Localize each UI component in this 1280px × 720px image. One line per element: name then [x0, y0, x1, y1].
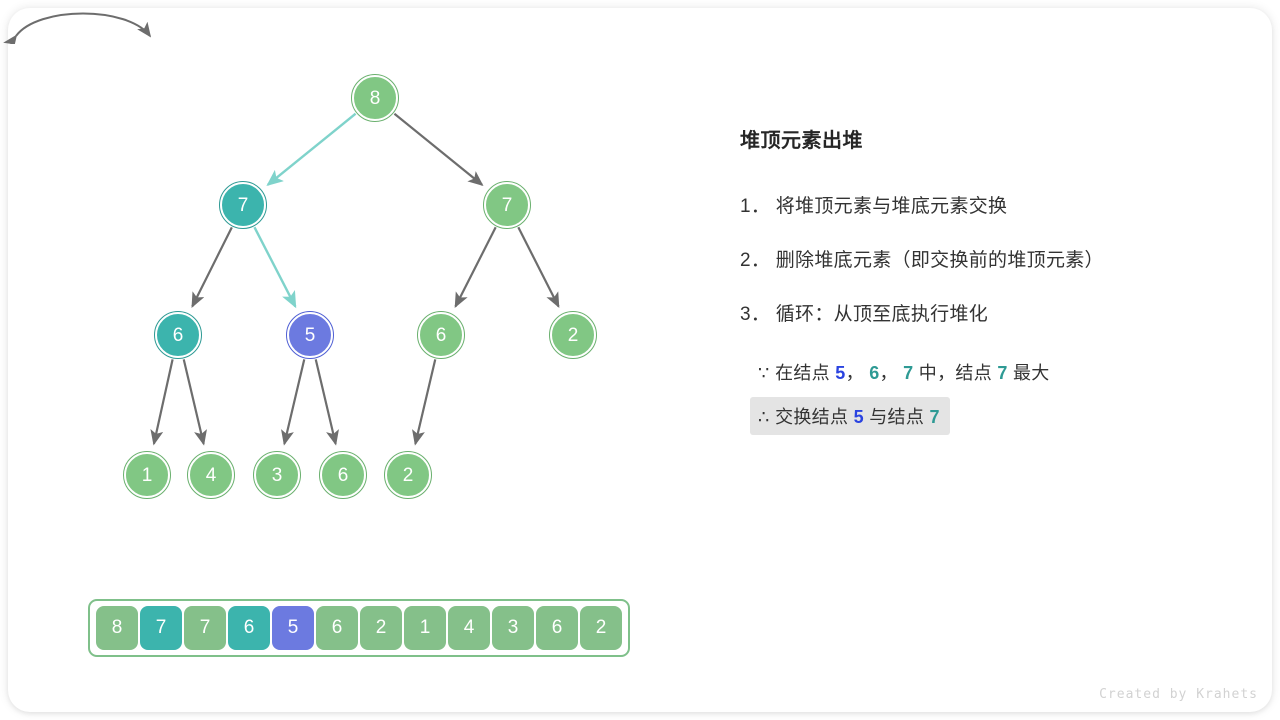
- tree-node-l3a: 1: [124, 452, 170, 498]
- step-3: 3． 循环：从顶至底执行堆化: [740, 299, 1220, 326]
- tree-node-label: 8: [370, 89, 381, 108]
- array-cell-1: 7: [140, 606, 182, 650]
- array-cell-9: 3: [492, 606, 534, 650]
- tree-node-label: 4: [206, 466, 217, 485]
- reason-line: ∵ 在结点 5， 6， 7 中，结点 7 最大: [750, 353, 1060, 391]
- tree-edge-root-to-l1: [268, 114, 356, 185]
- conclusion-line: ∴ 交换结点 5 与结点 7: [750, 397, 950, 435]
- array-cell-value: 6: [244, 617, 255, 639]
- tree-node-r1: 7: [484, 182, 530, 228]
- heap-array: 877656214362: [88, 599, 630, 657]
- array-cell-4: 5: [272, 606, 314, 650]
- array-cell-value: 6: [332, 617, 343, 639]
- tree-node-label: 7: [502, 196, 513, 215]
- array-cell-0: 8: [96, 606, 138, 650]
- tree-node-label: 7: [238, 196, 249, 215]
- step-1: 1． 将堆顶元素与堆底元素交换: [740, 191, 1220, 218]
- tree-node-label: 2: [568, 326, 579, 345]
- tree-edge-l1-to-l2b: [254, 227, 295, 306]
- illustration-canvas: 877656214362 877656214362 堆顶元素出堆 1． 将堆顶元…: [0, 0, 1280, 720]
- tree-node-l1: 7: [220, 182, 266, 228]
- tree-node-l2b: 5: [287, 312, 333, 358]
- tree-edge-r1-to-r2b: [518, 227, 558, 306]
- array-cell-2: 7: [184, 606, 226, 650]
- array-cell-value: 7: [156, 617, 167, 639]
- tree-node-label: 1: [142, 466, 153, 485]
- array-cell-10: 6: [536, 606, 578, 650]
- conclusion-text-2: 与结点: [869, 407, 924, 427]
- tree-node-l3e: 2: [385, 452, 431, 498]
- array-cell-value: 2: [596, 617, 607, 639]
- tree-edge-l2b-to-l3c: [284, 359, 304, 444]
- reason-sep-2: ，: [880, 363, 898, 383]
- binary-heap-tree-diagram: 877656214362 877656214362: [0, 0, 700, 704]
- tree-edge-root-to-r1: [394, 114, 482, 185]
- array-cell-6: 2: [360, 606, 402, 650]
- array-cell-8: 4: [448, 606, 490, 650]
- explanation-panel: 堆顶元素出堆 1． 将堆顶元素与堆底元素交换 2． 删除堆底元素（即交换前的堆顶…: [740, 124, 1220, 441]
- tree-edge-r2a-to-l3e: [415, 359, 435, 444]
- reason-node-5: 5: [835, 363, 845, 383]
- watermark: Created by Krahets: [1099, 687, 1258, 702]
- reason-node-6: 6: [869, 363, 879, 383]
- array-cell-value: 7: [200, 617, 211, 639]
- tree-node-l2a: 6: [155, 312, 201, 358]
- tree-node-label: 2: [403, 466, 414, 485]
- reason-text-3: 最大: [1013, 363, 1050, 383]
- array-cell-5: 6: [316, 606, 358, 650]
- tree-node-label: 6: [436, 326, 447, 345]
- reason-sep-1: ，: [846, 363, 864, 383]
- tree-node-r2b: 2: [550, 312, 596, 358]
- reason-max-node: 7: [997, 363, 1007, 383]
- array-cell-11: 2: [580, 606, 622, 650]
- array-cell-value: 4: [464, 617, 475, 639]
- reason-text-1: 在结点: [775, 363, 830, 383]
- tree-node-label: 3: [272, 466, 283, 485]
- array-cell-7: 1: [404, 606, 446, 650]
- tree-edge-l2a-to-l3b: [184, 359, 204, 444]
- tree-edge-l1-to-l2a: [192, 227, 232, 306]
- conclusion-text-1: 交换结点: [775, 407, 848, 427]
- array-cell-value: 1: [420, 617, 431, 639]
- tree-edge-l2b-to-l3d: [316, 359, 336, 444]
- array-cell-value: 3: [508, 617, 519, 639]
- reason-node-7: 7: [903, 363, 913, 383]
- tree-node-r2a: 6: [418, 312, 464, 358]
- conclusion-node-5: 5: [854, 407, 864, 427]
- array-cell-value: 5: [288, 617, 299, 639]
- tree-node-label: 6: [173, 326, 184, 345]
- array-cell-3: 6: [228, 606, 270, 650]
- reason-text-2: 中，结点: [919, 363, 992, 383]
- tree-node-l3c: 3: [254, 452, 300, 498]
- conclusion-node-7: 7: [929, 407, 939, 427]
- tree-edge-r1-to-r2a: [455, 227, 495, 306]
- tree-node-root: 8: [352, 75, 398, 121]
- because-symbol: ∵: [758, 363, 770, 383]
- tree-node-l3b: 4: [188, 452, 234, 498]
- array-cell-value: 8: [112, 617, 123, 639]
- tree-node-label: 6: [338, 466, 349, 485]
- step-2: 2． 删除堆底元素（即交换前的堆顶元素）: [740, 245, 1220, 272]
- array-cell-value: 2: [376, 617, 387, 639]
- therefore-symbol: ∴: [758, 407, 770, 427]
- tree-edge-l2a-to-l3a: [154, 359, 173, 443]
- page-title: 堆顶元素出堆: [740, 124, 1220, 153]
- array-cell-value: 6: [552, 617, 563, 639]
- tree-node-l3d: 6: [320, 452, 366, 498]
- tree-node-label: 5: [305, 326, 316, 345]
